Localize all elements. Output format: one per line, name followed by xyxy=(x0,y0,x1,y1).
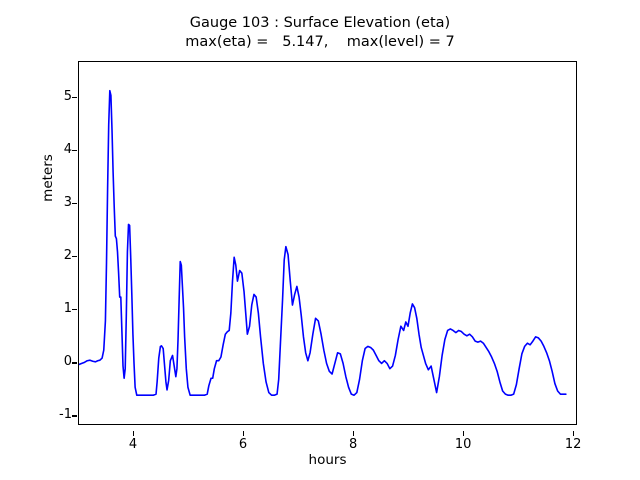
y-tick-label: -1 xyxy=(46,407,72,422)
y-tick-label: 4 xyxy=(46,142,72,157)
y-tick-mark xyxy=(72,97,77,98)
chart-title-line-2: max(eta) = 5.147, max(level) = 7 xyxy=(0,33,640,52)
chart-title: Gauge 103 : Surface Elevation (eta) max(… xyxy=(0,14,640,52)
x-tick-mark xyxy=(353,431,354,436)
y-tick-label: 5 xyxy=(46,89,72,104)
x-tick-mark xyxy=(573,431,574,436)
x-tick-label: 8 xyxy=(333,437,373,452)
x-axis-tick-labels: 4681012 xyxy=(78,431,577,451)
y-tick-mark xyxy=(72,362,77,363)
eta-time-series-line xyxy=(79,62,578,426)
x-tick-mark xyxy=(463,431,464,436)
y-tick-mark xyxy=(72,256,77,257)
plot-area xyxy=(78,61,577,425)
y-tick-label: 2 xyxy=(46,248,72,263)
y-tick-mark xyxy=(72,150,77,151)
y-tick-label: 3 xyxy=(46,195,72,210)
matplotlib-figure: Gauge 103 : Surface Elevation (eta) max(… xyxy=(0,0,640,480)
y-tick-label: 0 xyxy=(46,354,72,369)
x-tick-label: 6 xyxy=(223,437,263,452)
x-tick-label: 12 xyxy=(553,437,593,452)
x-tick-label: 4 xyxy=(113,437,153,452)
y-tick-label: 1 xyxy=(46,301,72,316)
x-tick-label: 10 xyxy=(443,437,483,452)
x-tick-mark xyxy=(133,431,134,436)
x-axis-label: hours xyxy=(78,452,577,468)
y-tick-mark xyxy=(72,309,77,310)
y-tick-mark xyxy=(72,203,77,204)
chart-title-line-1: Gauge 103 : Surface Elevation (eta) xyxy=(0,14,640,33)
x-tick-mark xyxy=(243,431,244,436)
y-axis-tick-labels: -1012345 xyxy=(44,61,72,425)
y-tick-mark xyxy=(72,415,77,416)
